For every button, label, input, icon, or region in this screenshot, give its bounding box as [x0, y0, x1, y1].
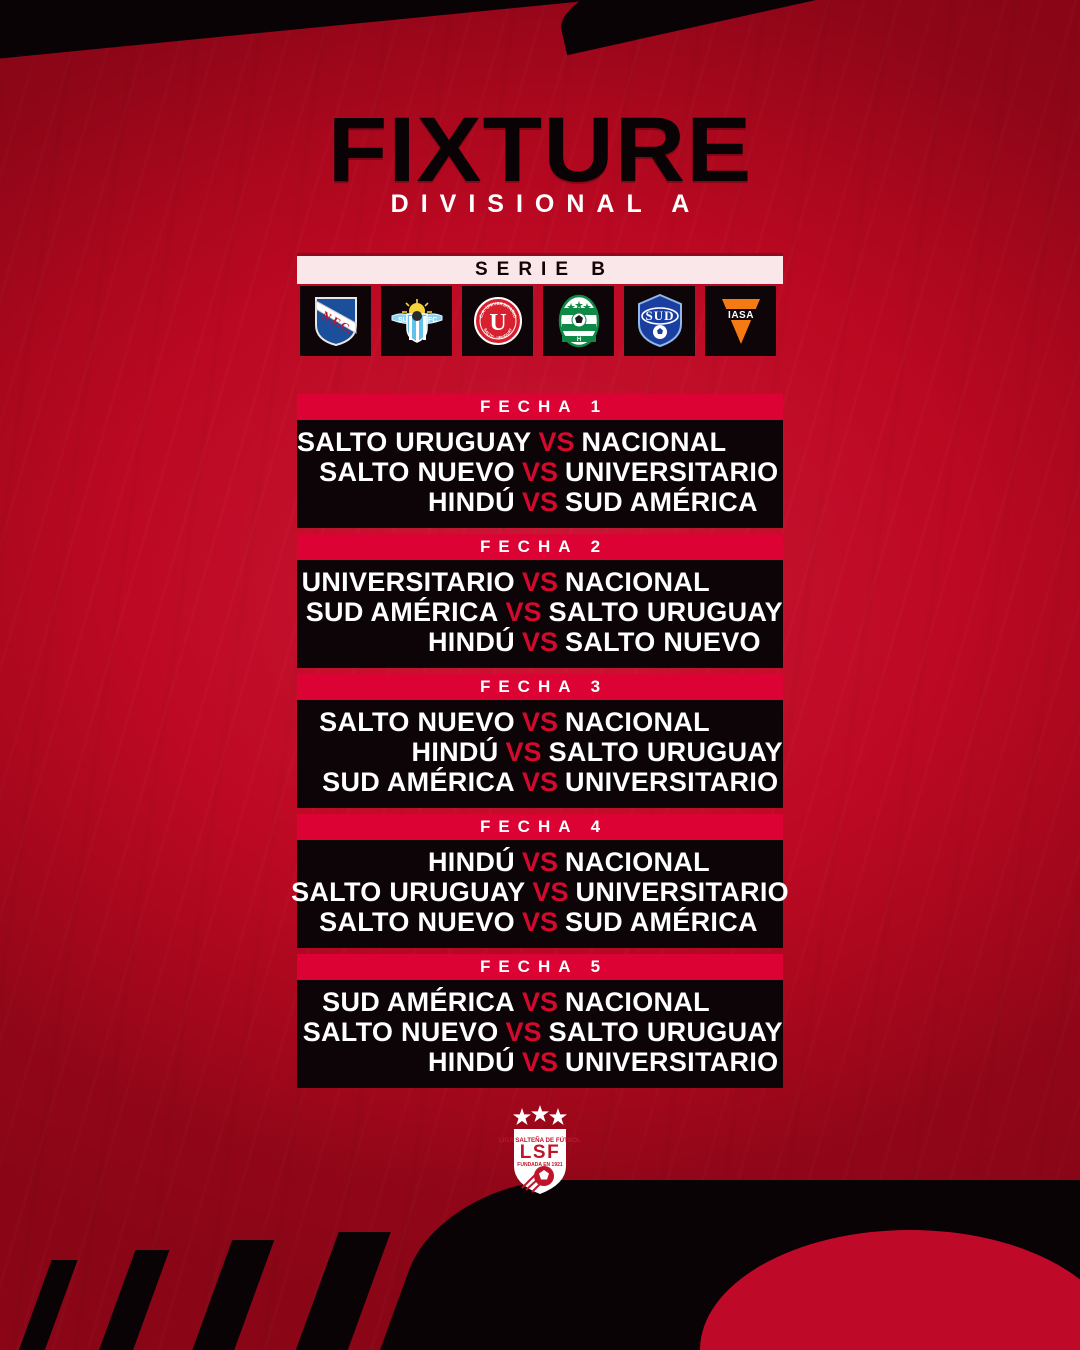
- vs-separator: VS: [499, 597, 549, 627]
- match-row: SALTO NUEVOVSSUD AMÉRICA: [297, 907, 783, 937]
- match-row: SALTO NUEVOVSNACIONAL: [297, 707, 783, 737]
- match-row: SALTO URUGUAYVSUNIVERSITARIO: [297, 877, 783, 907]
- home-team: SALTO URUGUAY: [291, 877, 525, 907]
- fecha-label: FECHA 3: [472, 677, 608, 697]
- away-team: SALTO URUGUAY: [549, 737, 783, 767]
- home-team: UNIVERSITARIO: [297, 567, 515, 597]
- match-row: SALTO URUGUAYVSNACIONAL: [297, 427, 783, 457]
- away-team: UNIVERSITARIO: [565, 457, 783, 487]
- salto-uruguay-crest: IASA: [718, 295, 764, 347]
- home-team: SALTO URUGUAY: [297, 427, 531, 457]
- fecha-label: FECHA 4: [472, 817, 608, 837]
- home-team: HINDÚ: [297, 487, 515, 517]
- crest-tile-salto-uruguay[interactable]: IASA: [705, 286, 776, 356]
- fecha-block: FECHA 1SALTO URUGUAYVSNACIONALSALTO NUEV…: [297, 394, 783, 528]
- fecha-header: FECHA 5: [297, 954, 783, 980]
- fecha-block: FECHA 3SALTO NUEVOVSNACIONALHINDÚVSSALTO…: [297, 674, 783, 808]
- home-team: SUD AMÉRICA: [297, 987, 515, 1017]
- away-team: SUD AMÉRICA: [565, 907, 783, 937]
- fecha-header: FECHA 1: [297, 394, 783, 420]
- match-row: HINDÚVSSUD AMÉRICA: [297, 487, 783, 517]
- universitario-crest: U C.A. UNIVERSITARIO SALTO · URUGUAY: [473, 296, 523, 346]
- match-row: HINDÚVSSALTO NUEVO: [297, 627, 783, 657]
- vs-separator: VS: [515, 457, 565, 487]
- home-team: HINDÚ: [297, 847, 515, 877]
- hindu-crest: H: [558, 294, 600, 348]
- vs-separator: VS: [515, 567, 565, 597]
- fecha-block: FECHA 2UNIVERSITARIOVSNACIONALSUD AMÉRIC…: [297, 534, 783, 668]
- fecha-matches: HINDÚVSNACIONALSALTO URUGUAYVSUNIVERSITA…: [297, 840, 783, 948]
- serie-header-bar: SERIE B: [297, 253, 783, 284]
- away-team: SALTO URUGUAY: [549, 597, 783, 627]
- vs-separator: VS: [515, 767, 565, 797]
- home-team: SUD AMÉRICA: [297, 597, 499, 627]
- home-team: SALTO NUEVO: [297, 707, 515, 737]
- logo-initials: LSF: [520, 1142, 560, 1163]
- vs-separator: VS: [515, 907, 565, 937]
- fecha-matches: SUD AMÉRICAVSNACIONALSALTO NUEVOVSSALTO …: [297, 980, 783, 1088]
- vs-separator: VS: [499, 1017, 549, 1047]
- crest-tile-sud-america[interactable]: SUD: [624, 286, 695, 356]
- crest-tile-hindu[interactable]: H: [543, 286, 614, 356]
- vs-separator: VS: [515, 987, 565, 1017]
- match-row: HINDÚVSUNIVERSITARIO: [297, 1047, 783, 1077]
- fecha-block: FECHA 5SUD AMÉRICAVSNACIONALSALTO NUEVOV…: [297, 954, 783, 1088]
- nacional-crest: N.F.C.: [313, 295, 359, 347]
- crest-tile-salto-nuevo[interactable]: SU FC: [381, 286, 452, 356]
- vs-separator: VS: [515, 487, 565, 517]
- match-row: SALTO NUEVOVSSALTO URUGUAY: [297, 1017, 783, 1047]
- away-team: NACIONAL: [565, 567, 783, 597]
- away-team: NACIONAL: [565, 707, 783, 737]
- match-row: SALTO NUEVOVSUNIVERSITARIO: [297, 457, 783, 487]
- fecha-label: FECHA 2: [472, 537, 608, 557]
- away-team: SALTO NUEVO: [565, 627, 783, 657]
- fecha-header: FECHA 3: [297, 674, 783, 700]
- fecha-matches: SALTO URUGUAYVSNACIONALSALTO NUEVOVSUNIV…: [297, 420, 783, 528]
- away-team: NACIONAL: [565, 987, 783, 1017]
- svg-text:SU: SU: [398, 317, 408, 324]
- sud-america-crest: SUD: [637, 294, 683, 348]
- home-team: HINDÚ: [297, 1047, 515, 1077]
- vs-separator: VS: [499, 737, 549, 767]
- home-team: SUD AMÉRICA: [297, 767, 515, 797]
- lsf-league-logo: LIGA SALTEÑA DE FÚTBOL LSF FUNDADA EN 19…: [492, 1102, 588, 1198]
- salto-nuevo-crest: SU FC: [390, 298, 444, 344]
- home-team: SALTO NUEVO: [297, 907, 515, 937]
- vs-separator: VS: [515, 627, 565, 657]
- fecha-header: FECHA 4: [297, 814, 783, 840]
- fecha-matches: SALTO NUEVOVSNACIONALHINDÚVSSALTO URUGUA…: [297, 700, 783, 808]
- fecha-header: FECHA 2: [297, 534, 783, 560]
- vs-separator: VS: [515, 707, 565, 737]
- home-team: HINDÚ: [297, 627, 515, 657]
- match-row: SUD AMÉRICAVSSALTO URUGUAY: [297, 597, 783, 627]
- away-team: UNIVERSITARIO: [576, 877, 789, 907]
- home-team: HINDÚ: [297, 737, 499, 767]
- svg-text:H: H: [576, 337, 580, 343]
- away-team: NACIONAL: [581, 427, 783, 457]
- svg-text:IASA: IASA: [728, 310, 754, 321]
- vs-separator: VS: [526, 877, 576, 907]
- fecha-label: FECHA 1: [472, 397, 608, 417]
- fecha-label: FECHA 5: [472, 957, 608, 977]
- svg-text:FC: FC: [428, 317, 437, 324]
- crest-tile-universitario[interactable]: U C.A. UNIVERSITARIO SALTO · URUGUAY: [462, 286, 533, 356]
- match-row: SUD AMÉRICAVSNACIONAL: [297, 987, 783, 1017]
- fecha-block: FECHA 4HINDÚVSNACIONALSALTO URUGUAYVSUNI…: [297, 814, 783, 948]
- svg-text:U: U: [489, 310, 506, 336]
- away-team: UNIVERSITARIO: [565, 1047, 783, 1077]
- away-team: SALTO URUGUAY: [549, 1017, 783, 1047]
- vs-separator: VS: [531, 427, 581, 457]
- crest-tile-nacional[interactable]: N.F.C.: [300, 286, 371, 356]
- fecha-matches: UNIVERSITARIOVSNACIONALSUD AMÉRICAVSSALT…: [297, 560, 783, 668]
- away-team: NACIONAL: [565, 847, 783, 877]
- page-title: FIXTURE: [0, 104, 1080, 196]
- match-row: HINDÚVSSALTO URUGUAY: [297, 737, 783, 767]
- match-row: UNIVERSITARIOVSNACIONAL: [297, 567, 783, 597]
- vs-separator: VS: [515, 847, 565, 877]
- match-row: SUD AMÉRICAVSUNIVERSITARIO: [297, 767, 783, 797]
- home-team: SALTO NUEVO: [297, 1017, 499, 1047]
- away-team: UNIVERSITARIO: [565, 767, 783, 797]
- serie-label: SERIE B: [466, 259, 614, 281]
- page-subtitle: DIVISIONAL A: [0, 192, 1080, 217]
- vs-separator: VS: [515, 1047, 565, 1077]
- team-crest-row: N.F.C.: [300, 286, 782, 356]
- match-row: HINDÚVSNACIONAL: [297, 847, 783, 877]
- svg-text:SUD: SUD: [645, 308, 674, 323]
- logo-stars: [513, 1105, 567, 1125]
- home-team: SALTO NUEVO: [297, 457, 515, 487]
- away-team: SUD AMÉRICA: [565, 487, 783, 517]
